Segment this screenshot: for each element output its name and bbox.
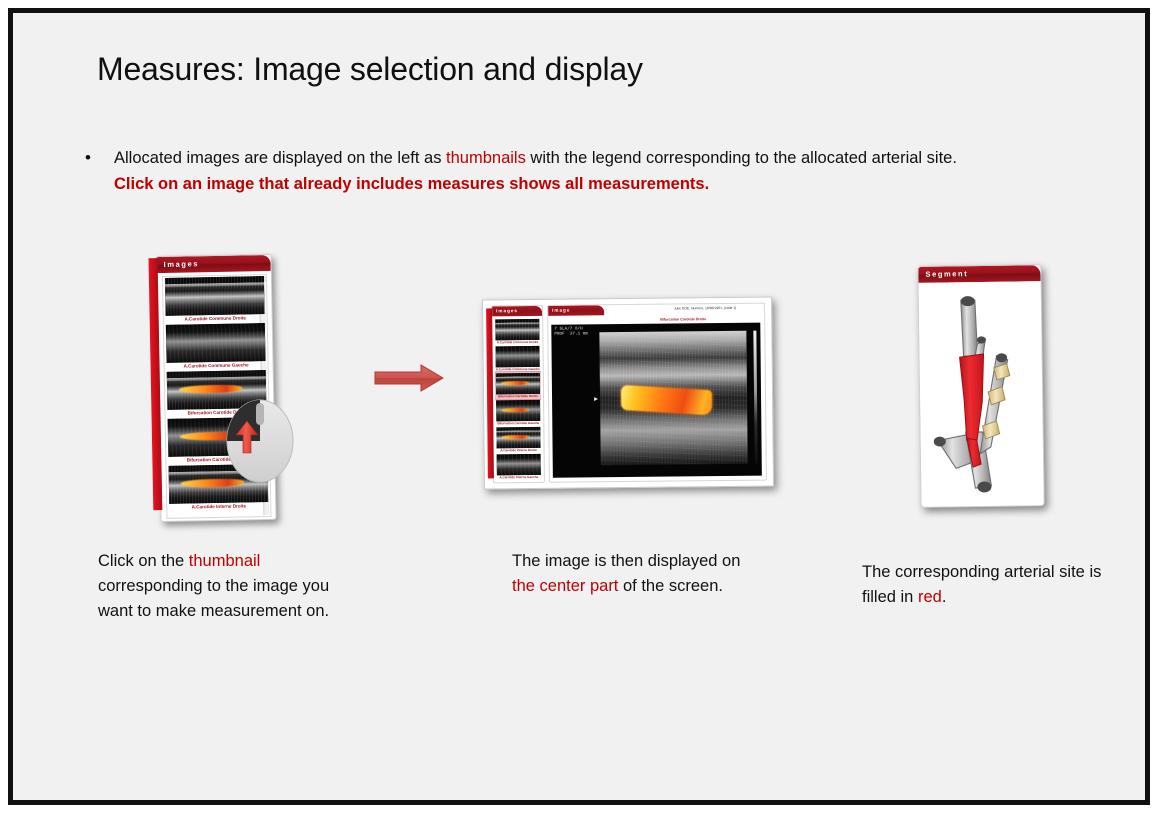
ultrasound-texture (166, 323, 266, 363)
caption-arterial-site: The corresponding arterial site is fille… (862, 560, 1107, 610)
viewer-thumbnail-item[interactable]: A.Carotide Interne Droite (495, 426, 541, 453)
caption-thumbnail: Click on the thumbnail corresponding to … (98, 549, 358, 624)
image-viewer-panel[interactable]: Image Julie DOE, Numero, 10/06/1961, (co… (547, 303, 767, 483)
right-arrow-icon (373, 362, 447, 394)
viewer-thumbnail-label: Bifurcation Carotide Gauche (496, 421, 540, 426)
viewer-thumbnail-list[interactable]: A.Carotide Commune DroiteA.Carotide Comm… (494, 318, 542, 480)
viewer-thumbnails-panel[interactable]: Images A.Carotide Commune DroiteA.Caroti… (491, 305, 545, 484)
thumbnail-item[interactable]: A.Carotide Commune Droite (163, 275, 267, 324)
viewer-thumbnail-image[interactable] (497, 454, 541, 475)
ultrasound-canvas[interactable]: 7 5LA/7 8/H PROF 37.1 mm ▶ (551, 323, 762, 478)
viewer-thumbnail-item[interactable]: A.Carotide Commune Gauche (494, 345, 540, 372)
mouse-click-icon (226, 399, 294, 483)
thumbnail-item[interactable]: A.Carotide Commune Gauche (164, 322, 268, 371)
doppler-flow-overlay (620, 385, 711, 416)
viewer-thumbnail-image[interactable] (495, 319, 539, 340)
ultrasound-image (599, 331, 747, 466)
thumbnail-image[interactable] (165, 276, 265, 316)
viewer-thumbnail-item[interactable]: A.Carotide Commune Droite (494, 318, 540, 345)
viewer-thumbnail-item[interactable]: Bifurcation Carotide Droite (495, 372, 541, 399)
bullet-highlight-thumbnails: thumbnails (446, 149, 526, 167)
caption-1-part2: corresponding to the image you want to m… (98, 577, 329, 620)
viewer-thumbnail-item[interactable]: A.Carotide Interne Gauche (496, 453, 542, 480)
ultrasound-texture (496, 346, 540, 367)
viewer-thumbnail-label: Bifurcation Carotide Droite (496, 394, 540, 399)
segment-window-header: Segment (918, 265, 1040, 283)
caption-3-part1: The corresponding arterial site is fille… (862, 563, 1101, 606)
slide-frame: Measures: Image selection and display • … (8, 8, 1150, 805)
segment-panel-screenshot[interactable]: Segment (917, 264, 1044, 508)
bullet-text-part2: with the legend corresponding to the all… (526, 149, 957, 167)
viewer-thumbnails-header: Images (492, 306, 542, 317)
image-viewer-header: Image (548, 305, 604, 316)
viewer-thumbnail-label: A.Carotide Interne Droite (497, 448, 541, 453)
thumbnail-image[interactable] (166, 323, 266, 363)
images-window-header: Images (156, 255, 270, 273)
viewer-thumbnail-item[interactable]: Bifurcation Carotide Gauche (495, 399, 541, 426)
arterial-tree-diagram[interactable] (919, 281, 1044, 507)
ultrasound-texture (497, 454, 541, 475)
viewer-thumbnail-label: A.Carotide Commune Gauche (496, 367, 540, 372)
patient-info-line: Julie DOE, Numero, 10/06/1961, (code 1) (646, 306, 764, 312)
depth-marker-icon: ▶ (594, 398, 598, 403)
caption-3-part2: . (942, 588, 947, 606)
viewer-thumbnail-image[interactable] (496, 427, 540, 448)
main-viewer-screenshot[interactable]: Images A.Carotide Commune DroiteA.Caroti… (482, 296, 774, 489)
caption-3-highlight: red (918, 588, 942, 606)
segment-window[interactable]: Segment (917, 264, 1044, 508)
ultrasound-texture (165, 276, 265, 316)
grayscale-bar (753, 331, 757, 464)
bullet-text: Allocated images are displayed on the le… (114, 146, 957, 197)
caption-center-part: The image is then displayed on the cente… (512, 549, 762, 599)
page-title: Measures: Image selection and display (97, 51, 643, 88)
viewer-thumbnail-label: A.Carotide Interne Gauche (497, 475, 541, 480)
caption-2-part1: The image is then displayed on (512, 552, 740, 570)
thumbnails-panel-screenshot[interactable]: Images ▲ A.Carotide Commune DroiteA.Caro… (148, 250, 281, 524)
viewer-thumbnail-image[interactable] (496, 373, 540, 394)
bullet-highlight-measures: Click on an image that already includes … (114, 175, 709, 193)
caption-2-part2: of the screen. (618, 577, 723, 595)
caption-1-highlight: thumbnail (189, 552, 261, 570)
application-window[interactable]: Images A.Carotide Commune DroiteA.Caroti… (482, 296, 774, 489)
bullet-marker: • (85, 149, 91, 166)
bullet-paragraph: • Allocated images are displayed on the … (77, 146, 957, 197)
viewer-thumbnail-image[interactable] (496, 346, 540, 367)
ultrasound-overlay-text: 7 5LA/7 8/H PROF 37.1 mm (554, 326, 588, 337)
caption-1-part1: Click on the (98, 552, 189, 570)
ultrasound-texture (495, 319, 539, 340)
bullet-text-part1: Allocated images are displayed on the le… (114, 149, 446, 167)
viewer-thumbnail-image[interactable] (496, 400, 540, 421)
viewer-thumbnail-label: A.Carotide Commune Droite (495, 340, 539, 345)
caption-2-highlight: the center part (512, 577, 618, 595)
